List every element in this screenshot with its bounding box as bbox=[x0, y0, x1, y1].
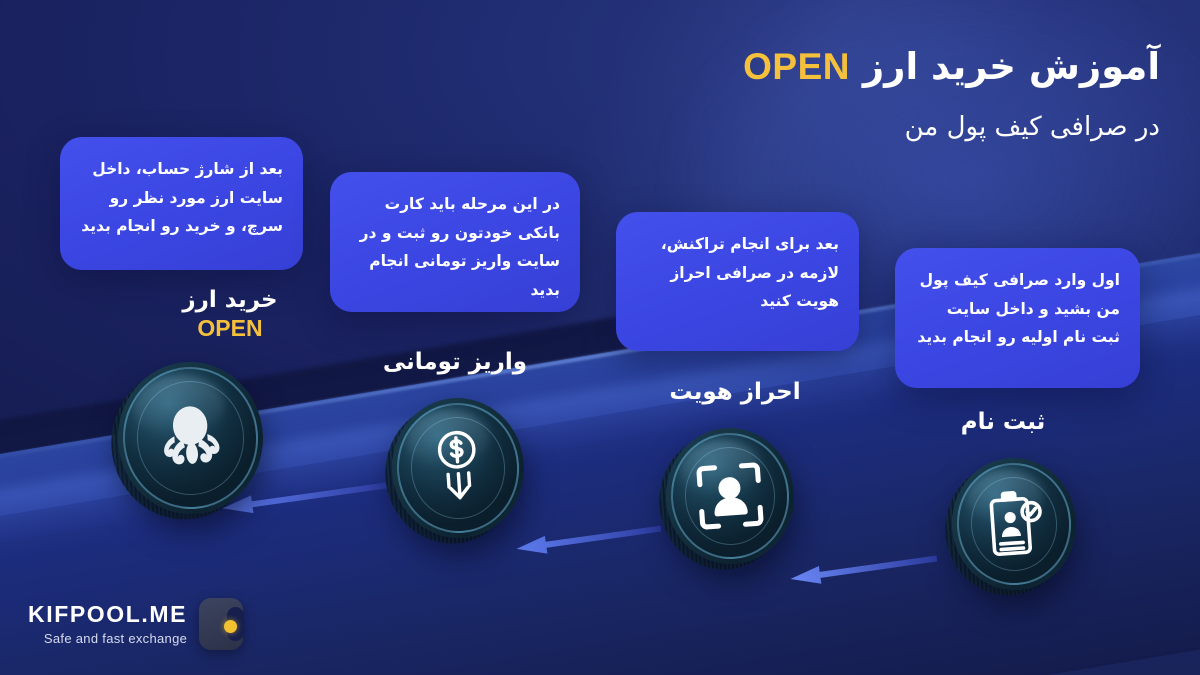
step-label-4-accent: OPEN bbox=[140, 315, 320, 342]
id-card-check-icon bbox=[978, 484, 1049, 564]
step-label-3: واریز تومانی bbox=[370, 348, 540, 377]
step-callout-2: بعد برای انجام تراکنش، لازمه در صرافی اح… bbox=[616, 212, 859, 351]
step-coin-1 bbox=[948, 454, 1081, 594]
page-subtitle: در صرافی کیف پول من bbox=[743, 112, 1160, 142]
step-label-1: ثبت نام bbox=[928, 408, 1078, 437]
step-coin-4 bbox=[113, 357, 268, 519]
step-label-2-title: احراز هویت bbox=[650, 378, 820, 407]
step-label-3-title: واریز تومانی bbox=[370, 348, 540, 377]
brand-tagline: Safe and fast exchange bbox=[28, 632, 187, 646]
step-label-1-title: ثبت نام bbox=[928, 408, 1078, 437]
step-label-4: خرید ارز OPEN bbox=[140, 286, 320, 342]
wallet-icon bbox=[199, 598, 243, 650]
step-callout-1: اول وارد صرافی کیف پول من بشید و داخل سا… bbox=[895, 248, 1140, 388]
page-title-main: آموزش خرید ارز bbox=[863, 45, 1160, 88]
dollar-deposit-arrow-icon bbox=[420, 426, 495, 511]
step-coin-2 bbox=[661, 424, 798, 569]
page-title: آموزش خرید ارز OPEN bbox=[743, 44, 1160, 90]
header: آموزش خرید ارز OPEN در صرافی کیف پول من bbox=[743, 44, 1160, 142]
page-title-accent: OPEN bbox=[743, 46, 850, 87]
step-coin-3 bbox=[387, 394, 528, 543]
octopus-icon bbox=[144, 391, 238, 485]
infographic-canvas: آموزش خرید ارز OPEN در صرافی کیف پول من … bbox=[0, 0, 1200, 675]
step-label-2: احراز هویت bbox=[650, 378, 820, 407]
brand-logo[interactable]: KIFPOOL.ME Safe and fast exchange bbox=[28, 598, 243, 650]
face-scan-icon bbox=[692, 458, 769, 535]
step-callout-4: بعد از شارژ حساب، داخل سایت ارز مورد نظر… bbox=[60, 137, 303, 270]
brand-name: KIFPOOL.ME bbox=[28, 602, 187, 627]
step-callout-3: در این مرحله باید کارت بانکی خودتون رو ث… bbox=[330, 172, 580, 312]
step-label-4-title: خرید ارز bbox=[140, 286, 320, 315]
brand-text: KIFPOOL.ME Safe and fast exchange bbox=[28, 602, 187, 646]
